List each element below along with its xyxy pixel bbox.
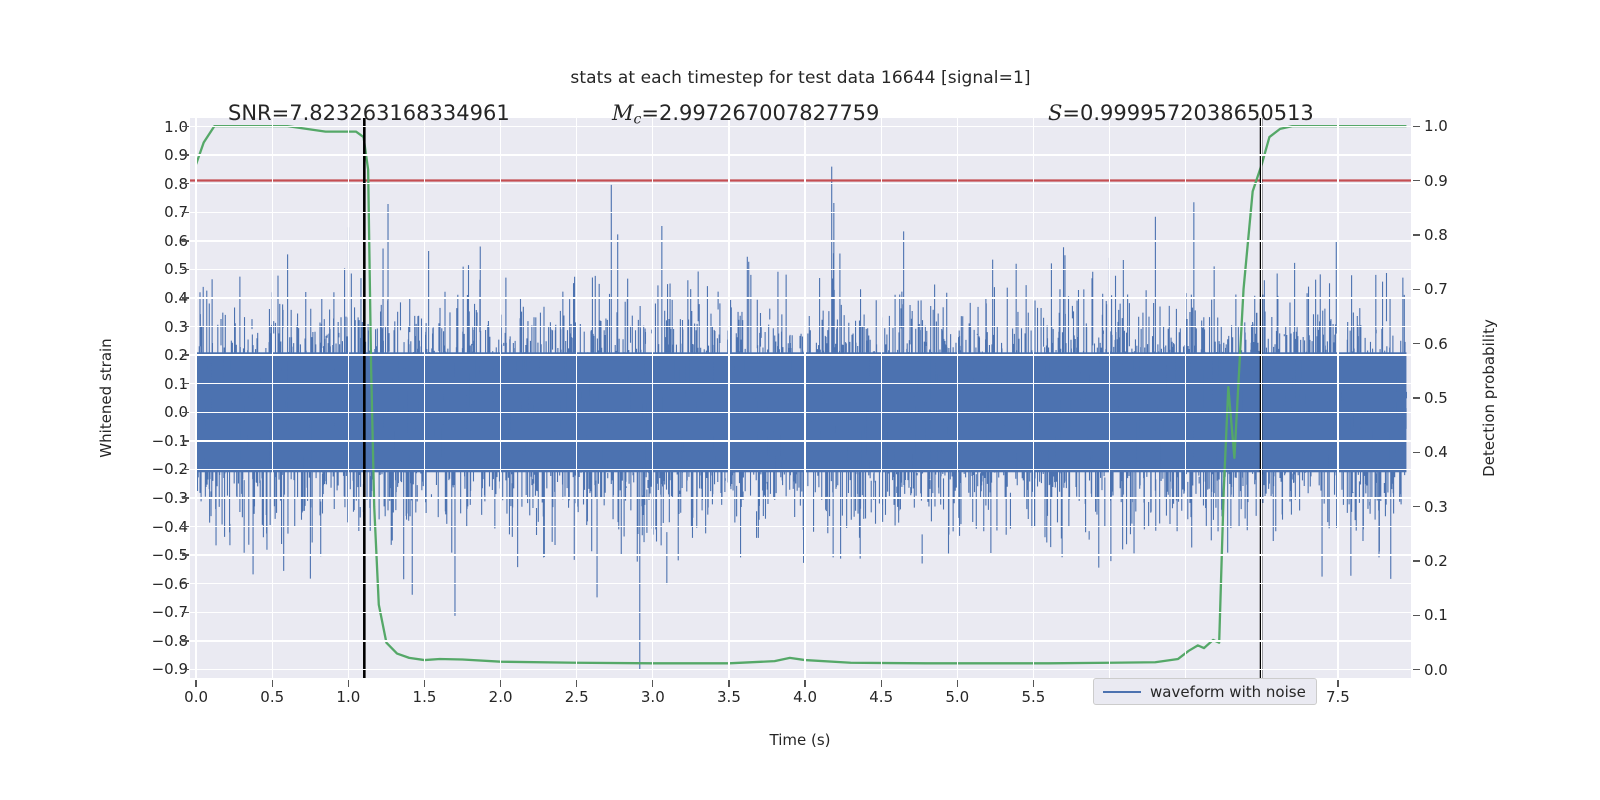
- figure-canvas: stats at each timestep for test data 166…: [0, 0, 1600, 800]
- gridline-horizontal: [190, 640, 1411, 641]
- x-axis-label: Time (s): [770, 731, 831, 749]
- annotation-snr: SNR=7.823263168334961: [228, 101, 510, 125]
- x-tick-label: 2.5: [565, 688, 589, 706]
- y-tick-mark-left: [182, 440, 189, 441]
- gridline-horizontal: [190, 497, 1411, 498]
- y-tick-mark-right: [1413, 343, 1420, 344]
- gridline-horizontal: [190, 526, 1411, 527]
- y-tick-mark-left: [182, 354, 189, 355]
- gridline-horizontal: [190, 383, 1411, 384]
- x-tick-label: 3.0: [641, 688, 665, 706]
- x-tick-mark: [728, 680, 729, 687]
- gridline-vertical: [424, 118, 425, 678]
- y-tick-mark-left: [182, 212, 189, 213]
- y-tick-mark-left: [182, 383, 189, 384]
- gridline-vertical: [1261, 118, 1262, 678]
- gridline-horizontal: [190, 440, 1411, 441]
- y-tick-label-right: 0.2: [1424, 552, 1448, 570]
- y-axis-label-right: Detection probability: [1480, 319, 1498, 477]
- y-tick-mark-right: [1413, 452, 1420, 453]
- y-tick-label-right: 0.3: [1424, 498, 1448, 516]
- y-tick-label-right: 0.8: [1424, 226, 1448, 244]
- annotation-mc-symbol: M: [612, 101, 634, 125]
- y-tick-label-right: 0.7: [1424, 280, 1448, 298]
- gridline-vertical: [500, 118, 501, 678]
- y-tick-mark-left: [182, 183, 189, 184]
- plot-title: stats at each timestep for test data 166…: [190, 68, 1411, 88]
- x-tick-mark: [424, 680, 425, 687]
- y-tick-mark-left: [182, 554, 189, 555]
- x-tick-label: 3.5: [717, 688, 741, 706]
- y-tick-mark-left: [182, 497, 189, 498]
- gridline-vertical: [348, 118, 349, 678]
- y-tick-mark-right: [1413, 615, 1420, 616]
- gridline-vertical: [576, 118, 577, 678]
- y-tick-mark-left: [182, 669, 189, 670]
- y-tick-mark-left: [182, 326, 189, 327]
- y-tick-label-right: 0.5: [1424, 389, 1448, 407]
- y-tick-mark-left: [182, 240, 189, 241]
- x-tick-label: 5.0: [945, 688, 969, 706]
- gridline-horizontal: [190, 412, 1411, 413]
- gridline-horizontal: [190, 583, 1411, 584]
- gridline-vertical: [1185, 118, 1186, 678]
- gridline-vertical: [195, 118, 196, 678]
- gridline-horizontal: [190, 269, 1411, 270]
- x-tick-mark: [652, 680, 653, 687]
- legend-swatch-waveform: [1103, 691, 1141, 693]
- x-tick-mark: [881, 680, 882, 687]
- y-tick-mark-right: [1413, 506, 1420, 507]
- y-tick-mark-right: [1413, 234, 1420, 235]
- annotation-s-symbol: S: [1048, 101, 1062, 125]
- plot-curves: [190, 118, 1411, 678]
- annotation-snr-text: SNR=7.823263168334961: [228, 101, 510, 125]
- y-tick-mark-left: [182, 583, 189, 584]
- y-tick-mark-right: [1413, 560, 1420, 561]
- y-tick-mark-left: [182, 412, 189, 413]
- y-tick-mark-left: [182, 612, 189, 613]
- gridline-horizontal: [190, 183, 1411, 184]
- gridline-horizontal: [190, 240, 1411, 241]
- y-tick-mark-left: [182, 640, 189, 641]
- x-tick-label: 5.5: [1021, 688, 1045, 706]
- gridline-horizontal: [190, 154, 1411, 155]
- gridline-horizontal: [190, 612, 1411, 613]
- y-tick-mark-left: [182, 297, 189, 298]
- gridline-horizontal: [190, 469, 1411, 470]
- y-tick-mark-right: [1413, 126, 1420, 127]
- gridline-vertical: [272, 118, 273, 678]
- gridline-vertical: [957, 118, 958, 678]
- annotation-chirp-mass: Mc=2.997267007827759: [612, 101, 879, 128]
- y-tick-mark-left: [182, 269, 189, 270]
- gridline-horizontal: [190, 554, 1411, 555]
- y-axis-label-left: Whitened strain: [97, 338, 115, 457]
- gridline-horizontal: [190, 354, 1411, 355]
- x-tick-mark: [195, 680, 196, 687]
- y-tick-mark-left: [182, 154, 189, 155]
- gridline-vertical: [1337, 118, 1338, 678]
- x-tick-mark: [500, 680, 501, 687]
- gridline-vertical: [652, 118, 653, 678]
- annotation-score: S=0.9999572038650513: [1048, 101, 1314, 125]
- gridline-horizontal: [190, 212, 1411, 213]
- x-tick-label: 1.0: [336, 688, 360, 706]
- annotation-s-value: =0.9999572038650513: [1062, 101, 1313, 125]
- y-tick-mark-right: [1413, 289, 1420, 290]
- gridline-horizontal: [190, 669, 1411, 670]
- y-tick-label-right: 0.9: [1424, 172, 1448, 190]
- x-tick-label: 7.5: [1326, 688, 1350, 706]
- legend[interactable]: waveform with noise: [1093, 678, 1317, 705]
- x-tick-label: 4.5: [869, 688, 893, 706]
- y-tick-mark-right: [1413, 397, 1420, 398]
- x-tick-mark: [957, 680, 958, 687]
- y-tick-mark-left: [182, 526, 189, 527]
- gridline-horizontal: [190, 297, 1411, 298]
- x-tick-label: 1.5: [413, 688, 437, 706]
- y-tick-label-right: 0.6: [1424, 335, 1448, 353]
- y-tick-mark-right: [1413, 669, 1420, 670]
- y-tick-mark-left: [182, 126, 189, 127]
- y-tick-label-right: 1.0: [1424, 117, 1448, 135]
- y-tick-mark-right: [1413, 180, 1420, 181]
- gridline-vertical: [804, 118, 805, 678]
- plot-area[interactable]: [190, 118, 1411, 678]
- gridline-vertical: [1033, 118, 1034, 678]
- x-tick-label: 4.0: [793, 688, 817, 706]
- y-tick-mark-left: [182, 469, 189, 470]
- y-tick-label-right: 0.4: [1424, 443, 1448, 461]
- gridline-vertical: [1109, 118, 1110, 678]
- gridline-vertical: [881, 118, 882, 678]
- x-tick-mark: [272, 680, 273, 687]
- x-tick-label: 0.0: [184, 688, 208, 706]
- annotation-mc-value: =2.997267007827759: [641, 101, 879, 125]
- x-tick-mark: [348, 680, 349, 687]
- x-tick-mark: [1337, 680, 1338, 687]
- y-tick-label-right: 0.0: [1424, 661, 1448, 679]
- y-tick-label-right: 0.1: [1424, 606, 1448, 624]
- legend-label-waveform: waveform with noise: [1150, 683, 1306, 701]
- x-tick-label: 2.0: [489, 688, 513, 706]
- x-tick-label: 0.5: [260, 688, 284, 706]
- gridline-horizontal: [190, 326, 1411, 327]
- x-tick-mark: [576, 680, 577, 687]
- x-tick-mark: [804, 680, 805, 687]
- gridline-vertical: [728, 118, 729, 678]
- x-tick-mark: [1033, 680, 1034, 687]
